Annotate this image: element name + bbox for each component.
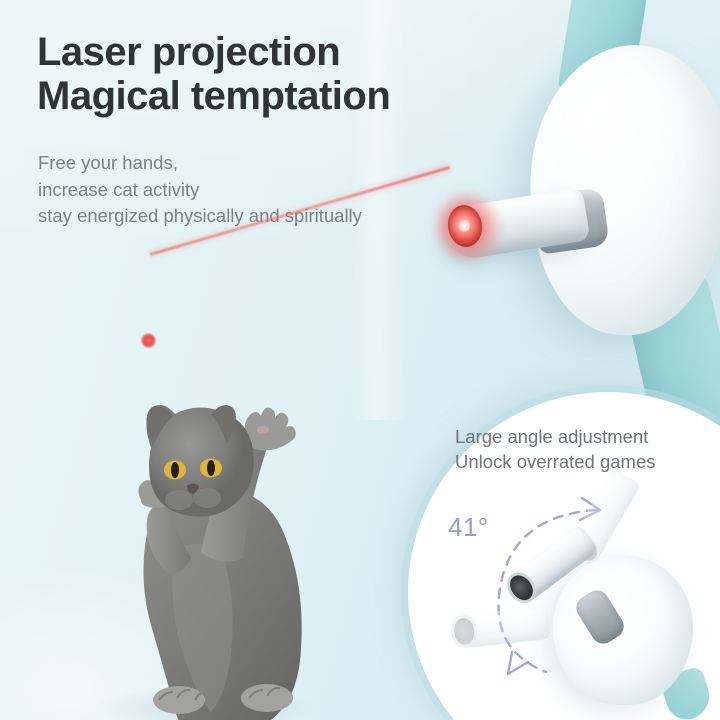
inset-title-line-1: Large angle adjustment [455,424,705,449]
cat-illustration [55,320,355,720]
cat-muzzle-right [193,488,221,508]
laser-lens-core [459,220,470,232]
cat-foot-right [241,684,293,712]
inset-emitter-lens-down [453,617,476,646]
angle-value-label: 41° [448,512,489,543]
cat-paw-pad [257,426,269,434]
inset-device [505,495,720,710]
cat-foot-left [153,686,205,714]
inset-title: Large angle adjustment Unlock overrated … [455,424,705,474]
cat-paw-raised [245,408,296,451]
product-poster: Laser projection Magical temptation Free… [0,0,720,720]
page-title: Laser projection Magical temptation [37,30,507,118]
product-device [440,0,720,400]
cat-muzzle-left [165,490,193,510]
subtitle-line-1: Free your hands, [38,150,458,177]
cat-pupil-left [171,462,179,478]
subtitle: Free your hands, increase cat activity s… [38,150,458,230]
headline-line-1: Laser projection [37,30,340,74]
device-body [520,38,720,341]
cat-photo [55,320,355,720]
headline-line-2: Magical temptation [37,74,507,118]
cat-pupil-right [207,460,215,476]
inset-title-line-2: Unlock overrated games [455,449,705,474]
inset-emitter-lens-main [505,571,537,605]
